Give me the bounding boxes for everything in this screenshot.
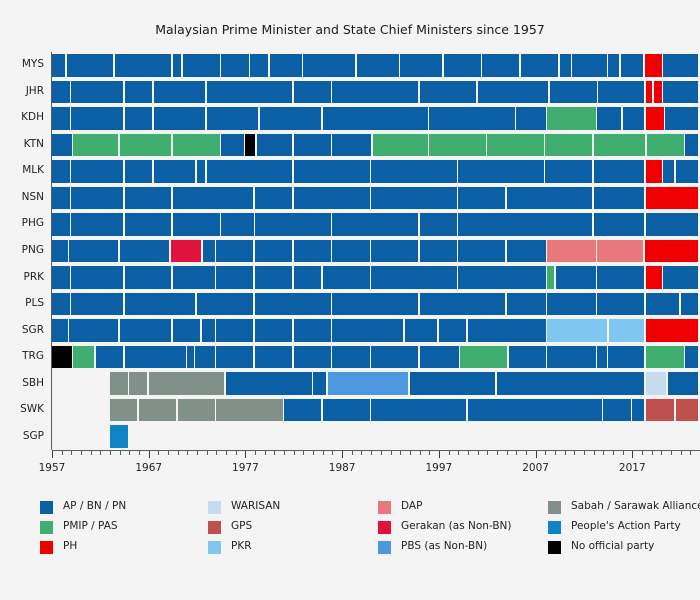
timeline-segment[interactable] <box>202 319 215 342</box>
timeline-segment[interactable] <box>420 240 457 263</box>
x-axis-major-tick <box>52 451 53 458</box>
x-axis-minor-tick <box>690 451 691 455</box>
timeline-segment[interactable] <box>646 319 699 342</box>
timeline-segment[interactable] <box>516 107 545 130</box>
timeline-segment[interactable] <box>521 54 558 77</box>
timeline-row-swk <box>52 399 700 422</box>
timeline-segment[interactable] <box>69 319 118 342</box>
legend-swatch-icon <box>40 541 53 554</box>
x-axis-major-tick <box>439 451 440 458</box>
timeline-segment[interactable] <box>52 319 68 342</box>
timeline-segment[interactable] <box>420 213 457 236</box>
timeline-segment[interactable] <box>255 319 292 342</box>
timeline-segment[interactable] <box>52 293 70 316</box>
timeline-segment[interactable] <box>294 81 331 104</box>
legend-column-0: AP / BN / PNPMIP / PASPH <box>40 498 200 558</box>
timeline-segment[interactable] <box>444 54 481 77</box>
timeline-segment[interactable] <box>216 240 253 263</box>
timeline-segment[interactable] <box>332 81 417 104</box>
legend-item[interactable]: People's Action Party <box>548 518 700 538</box>
timeline-row-pls <box>52 293 700 316</box>
timeline-segment[interactable] <box>608 54 619 77</box>
timeline-segment[interactable] <box>556 266 596 289</box>
x-axis-minor-tick <box>410 451 411 455</box>
timeline-segment[interactable] <box>125 107 152 130</box>
x-axis-minor-tick <box>265 451 266 455</box>
timeline-segment[interactable] <box>294 346 331 369</box>
timeline-segment[interactable] <box>149 372 225 395</box>
timeline-row-prk <box>52 266 700 289</box>
timeline-segment[interactable] <box>178 399 215 422</box>
x-axis-minor-tick <box>623 451 624 455</box>
timeline-segment[interactable] <box>52 134 72 157</box>
timeline-segment[interactable] <box>646 213 699 236</box>
timeline-segment[interactable] <box>110 399 137 422</box>
legend-item[interactable]: DAP <box>378 498 538 518</box>
timeline-segment[interactable] <box>216 266 253 289</box>
timeline-segment[interactable] <box>665 107 698 130</box>
plot-area <box>52 52 700 450</box>
timeline-segment[interactable] <box>547 293 596 316</box>
x-axis-minor-tick <box>81 451 82 455</box>
timeline-row-phg <box>52 213 700 236</box>
timeline-row-jhr <box>52 81 700 104</box>
timeline-segment[interactable] <box>623 107 645 130</box>
legend-item[interactable]: PH <box>40 538 200 558</box>
timeline-segment[interactable] <box>110 372 128 395</box>
y-axis-tick-jhr: JHR <box>0 85 44 97</box>
timeline-segment[interactable] <box>663 266 698 289</box>
timeline-segment[interactable] <box>598 81 644 104</box>
timeline-segment[interactable] <box>507 240 546 263</box>
x-axis-minor-tick <box>516 451 517 455</box>
timeline-segment[interactable] <box>420 81 476 104</box>
timeline-segment[interactable] <box>255 346 292 369</box>
timeline-segment[interactable] <box>52 213 70 236</box>
y-axis: MYSJHRKDHKTNMLKNSNPHGPNGPRKPLSSGRTRGSBHS… <box>0 52 52 450</box>
timeline-segment[interactable] <box>294 134 331 157</box>
timeline-segment[interactable] <box>260 107 321 130</box>
timeline-segment[interactable] <box>323 107 428 130</box>
y-axis-tick-nsn: NSN <box>0 191 44 203</box>
timeline-segment[interactable] <box>458 187 505 210</box>
x-axis-minor-tick <box>352 451 353 455</box>
y-axis-tick-pls: PLS <box>0 297 44 309</box>
timeline-segment[interactable] <box>420 293 505 316</box>
legend-column-2: DAPGerakan (as Non-BN)PBS (as Non-BN) <box>378 498 538 558</box>
timeline-segment[interactable] <box>663 54 698 77</box>
timeline-segment[interactable] <box>405 319 437 342</box>
x-axis-minor-tick <box>100 451 101 455</box>
timeline-segment[interactable] <box>154 107 206 130</box>
timeline-segment[interactable] <box>646 372 667 395</box>
timeline-row-sgp <box>52 425 700 448</box>
timeline-segment[interactable] <box>645 240 699 263</box>
timeline-segment[interactable] <box>507 187 592 210</box>
timeline-segment[interactable] <box>173 54 181 77</box>
legend-label: Gerakan (as Non-BN) <box>401 520 512 532</box>
x-axis-minor-tick <box>584 451 585 455</box>
x-axis-minor-tick <box>603 451 604 455</box>
x-axis-minor-tick <box>642 451 643 455</box>
timeline-segment[interactable] <box>332 319 403 342</box>
timeline-segment[interactable] <box>187 346 193 369</box>
x-axis-minor-tick <box>565 451 566 455</box>
legend-item[interactable]: AP / BN / PN <box>40 498 200 518</box>
x-axis-minor-tick <box>458 451 459 455</box>
timeline-segment[interactable] <box>207 160 292 183</box>
timeline-segment[interactable] <box>439 319 466 342</box>
timeline-segment[interactable] <box>270 54 302 77</box>
timeline-segment[interactable] <box>547 319 607 342</box>
timeline-segment[interactable] <box>52 266 70 289</box>
timeline-segment[interactable] <box>668 372 698 395</box>
timeline-segment[interactable] <box>125 81 152 104</box>
y-axis-tick-kdh: KDH <box>0 111 44 123</box>
timeline-segment[interactable] <box>482 54 519 77</box>
legend-item[interactable]: PBS (as Non-BN) <box>378 538 538 558</box>
timeline-segment[interactable] <box>603 399 630 422</box>
timeline-segment[interactable] <box>303 54 355 77</box>
legend-item[interactable]: Sabah / Sarawak Alliance <box>548 498 700 518</box>
timeline-segment[interactable] <box>460 346 507 369</box>
timeline-segment[interactable] <box>594 187 645 210</box>
timeline-segment[interactable] <box>71 107 123 130</box>
timeline-segment[interactable] <box>608 346 644 369</box>
timeline-segment[interactable] <box>458 240 505 263</box>
timeline-segment[interactable] <box>294 319 331 342</box>
timeline-segment[interactable] <box>509 346 546 369</box>
timeline-segment[interactable] <box>547 240 596 263</box>
timeline-segment[interactable] <box>71 160 123 183</box>
timeline-segment[interactable] <box>52 160 70 183</box>
timeline-segment[interactable] <box>71 266 123 289</box>
timeline-segment[interactable] <box>478 81 549 104</box>
timeline-segment[interactable] <box>332 346 369 369</box>
timeline-segment[interactable] <box>129 372 147 395</box>
x-axis-minor-tick <box>91 451 92 455</box>
timeline-segment[interactable] <box>125 160 152 183</box>
timeline-segment[interactable] <box>371 160 456 183</box>
x-axis-minor-tick <box>671 451 672 455</box>
x-axis-minor-tick <box>120 451 121 455</box>
timeline-segment[interactable] <box>550 81 597 104</box>
legend-swatch-icon <box>548 541 561 554</box>
timeline-segment[interactable] <box>197 160 205 183</box>
timeline-segment[interactable] <box>594 213 645 236</box>
timeline-segment[interactable] <box>663 160 674 183</box>
timeline-segment[interactable] <box>207 81 292 104</box>
legend-item[interactable]: Gerakan (as Non-BN) <box>378 518 538 538</box>
timeline-segment[interactable] <box>371 266 456 289</box>
x-axis-minor-tick <box>110 451 111 455</box>
timeline-segment[interactable] <box>594 160 645 183</box>
timeline-segment[interactable] <box>572 54 606 77</box>
x-axis-minor-tick <box>449 451 450 455</box>
legend-item[interactable]: GPS <box>208 518 368 538</box>
timeline-segment[interactable] <box>115 54 171 77</box>
x-axis-minor-tick <box>661 451 662 455</box>
timeline-segment[interactable] <box>216 399 282 422</box>
timeline-segment[interactable] <box>173 266 215 289</box>
y-axis-tick-trg: TRG <box>0 350 44 362</box>
timeline-segment[interactable] <box>328 372 409 395</box>
timeline-segment[interactable] <box>645 54 662 77</box>
x-axis: 1957196719771987199720072017 <box>52 450 700 480</box>
timeline-segment[interactable] <box>245 134 255 157</box>
y-axis-tick-sbh: SBH <box>0 377 44 389</box>
legend-swatch-icon <box>378 501 391 514</box>
timeline-segment[interactable] <box>410 372 495 395</box>
timeline-segment[interactable] <box>250 54 268 77</box>
timeline-row-kdh <box>52 107 700 130</box>
timeline-row-png <box>52 240 700 263</box>
timeline-segment[interactable] <box>646 107 664 130</box>
x-axis-minor-tick <box>71 451 72 455</box>
x-axis-tick-label-1997: 1997 <box>409 462 469 474</box>
timeline-segment[interactable] <box>125 346 186 369</box>
timeline-segment[interactable] <box>597 293 644 316</box>
timeline-segment[interactable] <box>73 134 118 157</box>
timeline-segment[interactable] <box>371 187 456 210</box>
timeline-segment[interactable] <box>332 213 417 236</box>
timeline-segment[interactable] <box>171 240 201 263</box>
legend-swatch-icon <box>208 541 221 554</box>
timeline-segment[interactable] <box>663 81 698 104</box>
legend-label: People's Action Party <box>571 520 681 532</box>
timeline-row-ktn <box>52 134 700 157</box>
timeline-segment[interactable] <box>173 319 200 342</box>
x-axis-minor-tick <box>303 451 304 455</box>
x-axis-minor-tick <box>468 451 469 455</box>
timeline-segment[interactable] <box>332 240 369 263</box>
timeline-segment[interactable] <box>71 187 123 210</box>
timeline-segment[interactable] <box>547 107 596 130</box>
timeline-segment[interactable] <box>294 240 331 263</box>
x-axis-minor-tick <box>255 451 256 455</box>
timeline-segment[interactable] <box>646 81 652 104</box>
timeline-segment[interactable] <box>332 293 417 316</box>
timeline-segment[interactable] <box>120 319 172 342</box>
timeline-segment[interactable] <box>257 134 292 157</box>
timeline-segment[interactable] <box>216 319 253 342</box>
timeline-segment[interactable] <box>313 372 326 395</box>
timeline-segment[interactable] <box>221 213 253 236</box>
x-axis-tick-label-1967: 1967 <box>119 462 179 474</box>
timeline-segment[interactable] <box>560 54 571 77</box>
timeline-segment[interactable] <box>685 346 698 369</box>
timeline-segment[interactable] <box>647 134 684 157</box>
timeline-segment[interactable] <box>681 293 699 316</box>
timeline-row-sgr <box>52 319 700 342</box>
timeline-segment[interactable] <box>323 266 370 289</box>
legend-label: No official party <box>571 540 654 552</box>
timeline-segment[interactable] <box>110 425 128 448</box>
timeline-segment[interactable] <box>125 293 196 316</box>
timeline-segment[interactable] <box>487 134 543 157</box>
timeline-segment[interactable] <box>52 54 65 77</box>
timeline-segment[interactable] <box>323 399 370 422</box>
x-axis-major-tick <box>245 451 246 458</box>
timeline-segment[interactable] <box>139 399 176 422</box>
chart-title: Malaysian Prime Minister and State Chief… <box>0 22 700 37</box>
timeline-segment[interactable] <box>420 346 459 369</box>
timeline-segment[interactable] <box>154 81 206 104</box>
timeline-segment[interactable] <box>284 399 321 422</box>
timeline-segment[interactable] <box>646 399 674 422</box>
legend-item[interactable]: PKR <box>208 538 368 558</box>
legend-label: DAP <box>401 500 422 512</box>
timeline-segment[interactable] <box>71 293 123 316</box>
timeline-segment[interactable] <box>357 54 399 77</box>
timeline-segment[interactable] <box>197 293 253 316</box>
timeline-segment[interactable] <box>294 266 321 289</box>
y-axis-tick-ktn: KTN <box>0 138 44 150</box>
timeline-segment[interactable] <box>646 187 699 210</box>
y-axis-tick-mlk: MLK <box>0 164 44 176</box>
timeline-segment[interactable] <box>226 372 311 395</box>
timeline-segment[interactable] <box>173 213 220 236</box>
x-axis-minor-tick <box>545 451 546 455</box>
timeline-segment[interactable] <box>468 399 602 422</box>
timeline-segment[interactable] <box>646 293 679 316</box>
timeline-segment[interactable] <box>597 240 643 263</box>
timeline-segment[interactable] <box>52 81 70 104</box>
x-axis-minor-tick <box>478 451 479 455</box>
y-axis-tick-swk: SWK <box>0 403 44 415</box>
timeline-segment[interactable] <box>621 54 644 77</box>
x-axis-tick-label-1957: 1957 <box>22 462 82 474</box>
x-axis-minor-tick <box>139 451 140 455</box>
timeline-segment[interactable] <box>497 372 644 395</box>
timeline-segment[interactable] <box>67 54 114 77</box>
timeline-segment[interactable] <box>71 81 123 104</box>
x-axis-minor-tick <box>216 451 217 455</box>
timeline-segment[interactable] <box>632 399 644 422</box>
legend-swatch-icon <box>40 501 53 514</box>
x-axis-minor-tick <box>420 451 421 455</box>
x-axis-minor-tick <box>526 451 527 455</box>
legend-item[interactable]: PMIP / PAS <box>40 518 200 538</box>
legend-label: AP / BN / PN <box>63 500 126 512</box>
timeline-segment[interactable] <box>120 240 170 263</box>
timeline-segment[interactable] <box>654 81 662 104</box>
timeline-segment[interactable] <box>597 346 606 369</box>
timeline-segment[interactable] <box>154 160 196 183</box>
timeline-segment[interactable] <box>676 160 699 183</box>
legend-item[interactable]: WARISAN <box>208 498 368 518</box>
timeline-segment[interactable] <box>594 134 646 157</box>
timeline-segment[interactable] <box>221 54 248 77</box>
timeline-segment[interactable] <box>52 240 68 263</box>
chart-root: Malaysian Prime Minister and State Chief… <box>0 0 700 600</box>
timeline-segment[interactable] <box>255 240 292 263</box>
timeline-segment[interactable] <box>676 399 699 422</box>
timeline-segment[interactable] <box>371 399 466 422</box>
timeline-segment[interactable] <box>96 346 123 369</box>
timeline-segment[interactable] <box>125 213 172 236</box>
timeline-segment[interactable] <box>125 266 172 289</box>
timeline-segment[interactable] <box>207 107 259 130</box>
x-axis-minor-tick <box>361 451 362 455</box>
y-axis-tick-mys: MYS <box>0 58 44 70</box>
legend-label: WARISAN <box>231 500 280 512</box>
timeline-segment[interactable] <box>646 346 684 369</box>
timeline-segment[interactable] <box>371 346 418 369</box>
timeline-segment[interactable] <box>458 266 545 289</box>
legend-item[interactable]: No official party <box>548 538 700 558</box>
x-axis-minor-tick <box>226 451 227 455</box>
timeline-segment[interactable] <box>332 134 371 157</box>
timeline-segment[interactable] <box>195 346 215 369</box>
timeline-segment[interactable] <box>547 266 554 289</box>
timeline-segment[interactable] <box>69 240 118 263</box>
timeline-segment[interactable] <box>71 213 123 236</box>
legend-label: PBS (as Non-BN) <box>401 540 487 552</box>
timeline-segment[interactable] <box>216 346 253 369</box>
timeline-segment[interactable] <box>597 107 621 130</box>
timeline-segment[interactable] <box>468 319 546 342</box>
timeline-segment[interactable] <box>597 266 644 289</box>
timeline-segment[interactable] <box>547 346 596 369</box>
timeline-segment[interactable] <box>294 187 370 210</box>
timeline-segment[interactable] <box>545 134 592 157</box>
x-axis-minor-tick <box>168 451 169 455</box>
timeline-segment[interactable] <box>255 293 331 316</box>
x-axis-minor-tick <box>197 451 198 455</box>
timeline-segment[interactable] <box>52 187 70 210</box>
timeline-segment[interactable] <box>52 346 72 369</box>
timeline-segment[interactable] <box>373 134 427 157</box>
y-axis-tick-png: PNG <box>0 244 44 256</box>
timeline-segment[interactable] <box>125 187 172 210</box>
timeline-segment[interactable] <box>507 293 546 316</box>
timeline-row-mlk <box>52 160 700 183</box>
x-axis-minor-tick <box>294 451 295 455</box>
timeline-segment[interactable] <box>255 187 292 210</box>
timeline-segment[interactable] <box>255 213 331 236</box>
timeline-segment[interactable] <box>183 54 220 77</box>
timeline-segment[interactable] <box>173 187 254 210</box>
x-axis-minor-tick <box>371 451 372 455</box>
timeline-segment[interactable] <box>646 266 662 289</box>
timeline-segment[interactable] <box>371 240 418 263</box>
timeline-row-nsn <box>52 187 700 210</box>
x-axis-minor-tick <box>129 451 130 455</box>
timeline-segment[interactable] <box>545 160 592 183</box>
timeline-segment[interactable] <box>120 134 172 157</box>
timeline-segment[interactable] <box>646 160 662 183</box>
timeline-segment[interactable] <box>685 134 698 157</box>
timeline-segment[interactable] <box>255 266 292 289</box>
x-axis-tick-label-2007: 2007 <box>506 462 566 474</box>
timeline-segment[interactable] <box>458 160 543 183</box>
timeline-segment[interactable] <box>73 346 94 369</box>
x-axis-minor-tick <box>594 451 595 455</box>
legend-swatch-icon <box>378 541 391 554</box>
timeline-segment[interactable] <box>429 134 485 157</box>
timeline-segment[interactable] <box>609 319 644 342</box>
timeline-segment[interactable] <box>52 107 70 130</box>
timeline-segment[interactable] <box>294 160 370 183</box>
timeline-segment[interactable] <box>173 134 220 157</box>
timeline-segment[interactable] <box>429 107 514 130</box>
timeline-segment[interactable] <box>221 134 244 157</box>
timeline-segment[interactable] <box>458 213 592 236</box>
legend-swatch-icon <box>208 501 221 514</box>
timeline-segment[interactable] <box>203 240 215 263</box>
timeline-segment[interactable] <box>400 54 442 77</box>
